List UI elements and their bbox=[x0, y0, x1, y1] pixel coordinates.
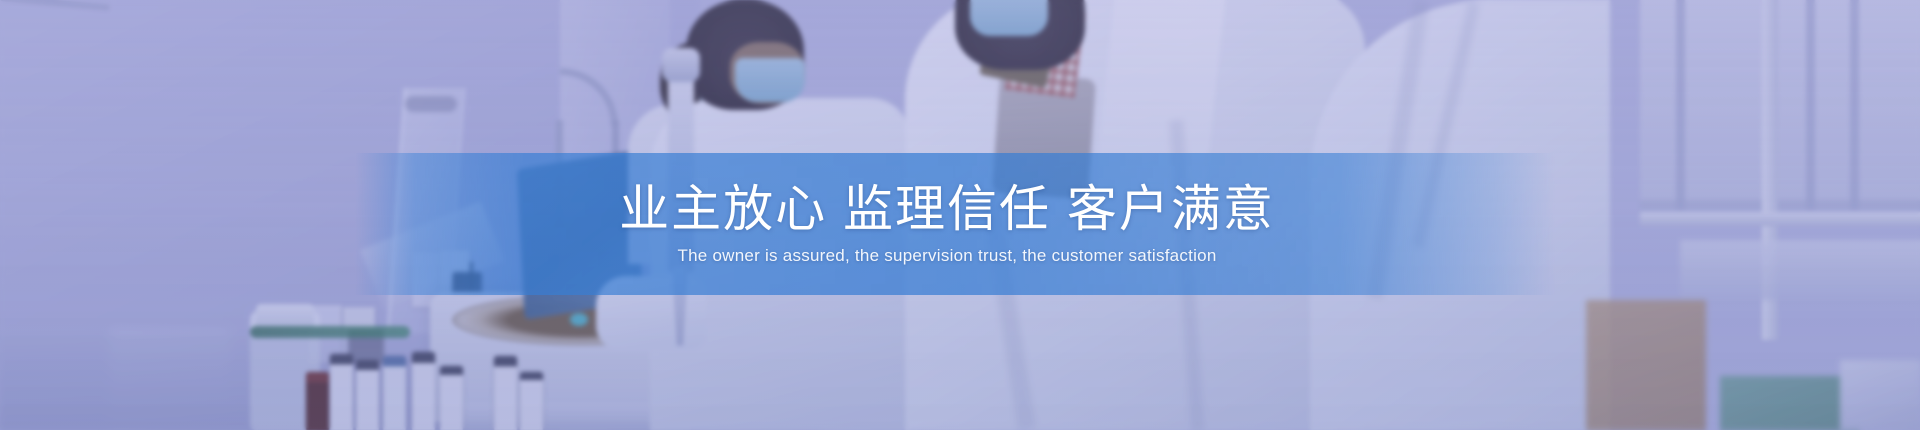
window-mullion bbox=[1806, 0, 1815, 210]
sample-vial bbox=[520, 372, 543, 430]
sample-vial bbox=[412, 352, 435, 430]
lab-background-photo bbox=[0, 0, 1920, 430]
cardboard-box bbox=[1586, 300, 1706, 430]
sample-vial bbox=[330, 354, 353, 430]
sample-vial bbox=[494, 356, 517, 430]
storage-shelf bbox=[1680, 240, 1920, 300]
sample-vial bbox=[383, 356, 406, 430]
hero-banner: 业主放心 监理信任 客户满意 The owner is assured, the… bbox=[0, 0, 1920, 430]
window-mullion bbox=[1676, 0, 1685, 210]
sample-vial bbox=[356, 360, 379, 430]
sample-vial bbox=[306, 372, 329, 430]
storage-shelf bbox=[1640, 212, 1920, 226]
face-mask bbox=[735, 58, 805, 102]
pipette bbox=[668, 62, 694, 272]
latex-glove bbox=[596, 276, 706, 350]
vial-rack bbox=[250, 326, 410, 338]
shelf-item bbox=[1840, 360, 1920, 430]
green-container bbox=[1720, 376, 1860, 430]
pipette-plunger bbox=[662, 48, 700, 82]
sample-vial bbox=[440, 366, 463, 430]
centrifuge-indicator bbox=[570, 313, 588, 326]
window-mullion bbox=[1850, 0, 1859, 210]
face-mask bbox=[970, 0, 1048, 36]
shield-clip bbox=[405, 96, 457, 112]
